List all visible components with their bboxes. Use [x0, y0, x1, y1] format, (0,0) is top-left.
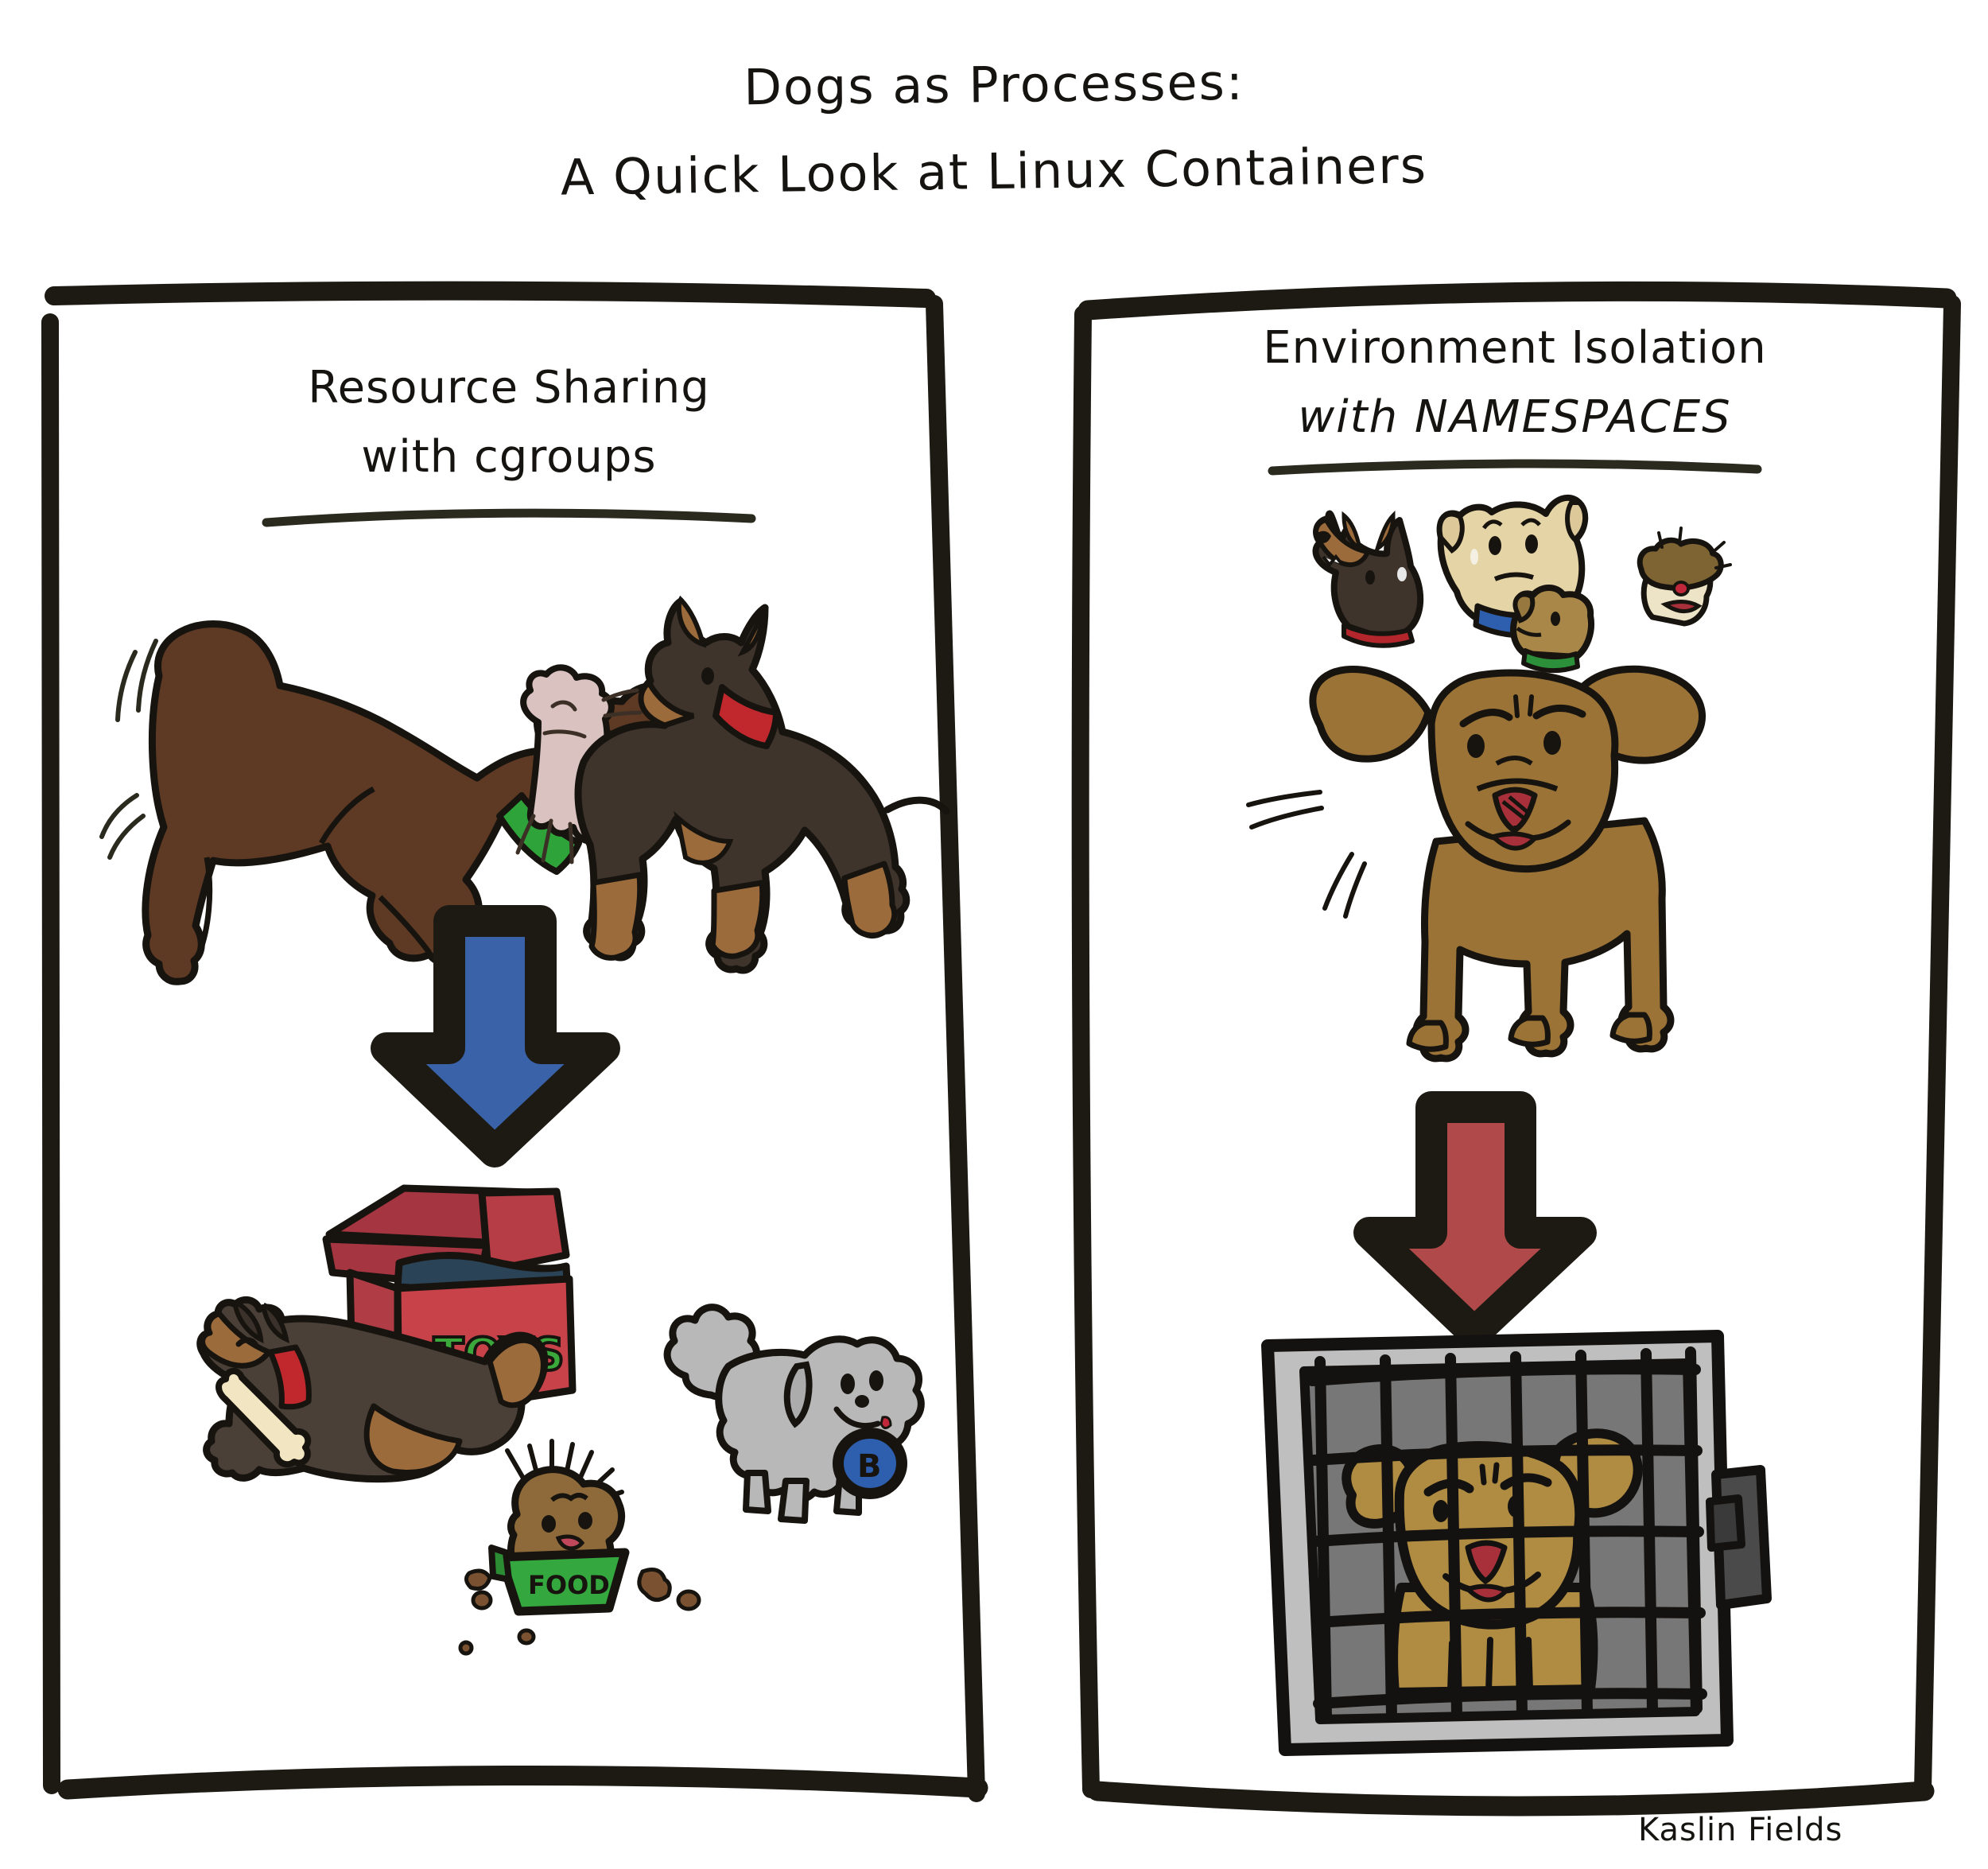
motion-lines — [102, 636, 827, 857]
heading-underline-namespaces — [1272, 464, 1757, 471]
comic-title: Dogs as Processes: A Quick Look at Linux… — [0, 56, 1988, 200]
bone — [219, 1371, 308, 1464]
doberman-head — [1315, 514, 1420, 646]
panel-heading-cgroups: Resource Sharing with cgroups — [103, 362, 914, 483]
crate-bars — [1312, 1352, 1702, 1718]
puppy-at-food-bowl: FOOD — [460, 1441, 699, 1653]
toy-box-label: TOYS — [433, 1329, 565, 1381]
caged-dog — [1346, 1433, 1637, 1692]
down-arrow-blue — [386, 921, 604, 1152]
crate-latch[interactable] — [1710, 1470, 1767, 1605]
panel-frame-namespaces — [1081, 291, 1952, 1806]
crate-frame — [1268, 1336, 1727, 1750]
big-brown-dog — [1248, 669, 1703, 1059]
artist-signature: Kaslin Fields — [1638, 1812, 1842, 1848]
panel-heading-cgroups-line2: with cgroups — [103, 431, 914, 483]
blue-ball-label: B — [857, 1448, 882, 1485]
small-tan-dog-head — [1513, 588, 1591, 670]
title-line-2: A Quick Look at Linux Containers — [0, 129, 1988, 215]
plush-toy — [518, 667, 640, 862]
doberman-tugging — [578, 600, 946, 970]
title-line-1: Dogs as Processes: — [0, 45, 1988, 124]
panel-heading-namespaces: Environment Isolation with NAMESPACES — [1113, 322, 1916, 443]
tug-of-war-scene — [102, 600, 946, 981]
cream-dog-head — [1440, 498, 1586, 635]
panel-frame-cgroups — [50, 291, 978, 1793]
crate-scene — [1268, 1336, 1767, 1750]
down-arrow-red — [1369, 1107, 1581, 1333]
comic-canvas: Dogs as Processes: A Quick Look at Linux… — [0, 0, 1988, 1869]
grey-poodle — [667, 1308, 921, 1521]
heading-underline-cgroups — [266, 513, 751, 523]
shared-resources-scene: TOYS — [200, 1188, 922, 1653]
food-bowl-label: FOOD — [528, 1570, 610, 1600]
doberman-with-bone — [200, 1300, 545, 1478]
panel-heading-namespaces-line1: Environment Isolation — [1113, 322, 1916, 374]
toy-box: TOYS — [326, 1188, 573, 1417]
panel-heading-cgroups-line1: Resource Sharing — [103, 362, 914, 414]
kibble — [460, 1570, 699, 1653]
brown-white-dog-head — [1640, 528, 1730, 624]
panel-heading-namespaces-line2: with NAMESPACES — [1113, 391, 1916, 443]
crate-interior — [1304, 1363, 1695, 1719]
blue-ball: B — [838, 1433, 902, 1494]
brown-dog-tugging — [146, 624, 691, 982]
other-dog-heads-scene — [1248, 498, 1730, 1059]
